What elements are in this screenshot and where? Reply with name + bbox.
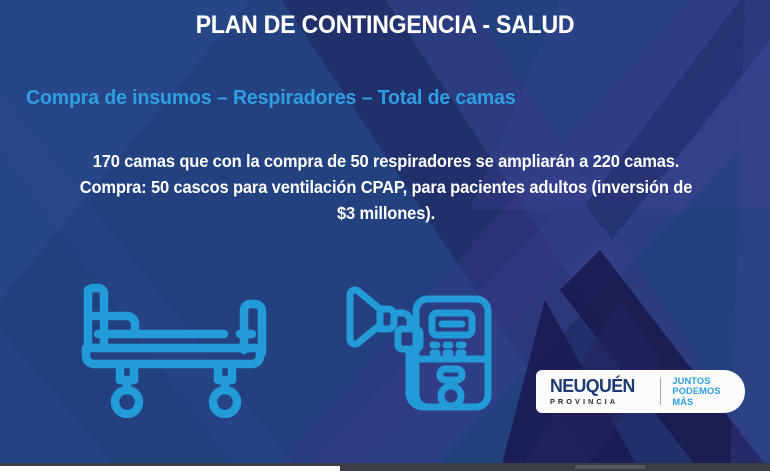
- body-line-1: 170 camas que con la compra de 50 respir…: [37, 149, 736, 175]
- strip-segment-mid: [575, 465, 645, 469]
- logo-slogan-line-1: JUNTOS: [672, 376, 720, 386]
- logo-slogan-line-2: PODEMOS: [672, 386, 720, 396]
- logo-slogan: JUNTOS PODEMOS MÁS: [672, 376, 720, 406]
- slide-subtitle: Compra de insumos – Respiradores – Total…: [26, 86, 634, 110]
- logo-subbrand: PROVINCIA: [550, 397, 656, 407]
- ventilator-icon: [340, 281, 510, 425]
- logo-brand-block: NEUQUÉN PROVINCIA: [550, 377, 656, 407]
- body-line-2: Compra: 50 cascos para ventilación CPAP,…: [37, 175, 736, 201]
- neuquen-provincia-logo: NEUQUÉN PROVINCIA JUNTOS PODEMOS MÁS: [536, 370, 745, 413]
- strip-segment-left: [0, 466, 340, 471]
- slide-body-text: 170 camas que con la compra de 50 respir…: [37, 149, 736, 227]
- presentation-slide: PLAN DE CONTINGENCIA - SALUD Compra de i…: [0, 0, 770, 471]
- logo-divider: [660, 378, 661, 405]
- logo-brand-name: NEUQUÉN: [550, 377, 652, 395]
- hospital-bed-icon: [72, 282, 280, 418]
- body-line-3: $3 millones).: [37, 201, 736, 227]
- slide-title: PLAN DE CONTINGENCIA - SALUD: [31, 11, 739, 40]
- logo-slogan-line-3: MÁS: [672, 397, 720, 407]
- window-bottom-strip: [0, 463, 770, 471]
